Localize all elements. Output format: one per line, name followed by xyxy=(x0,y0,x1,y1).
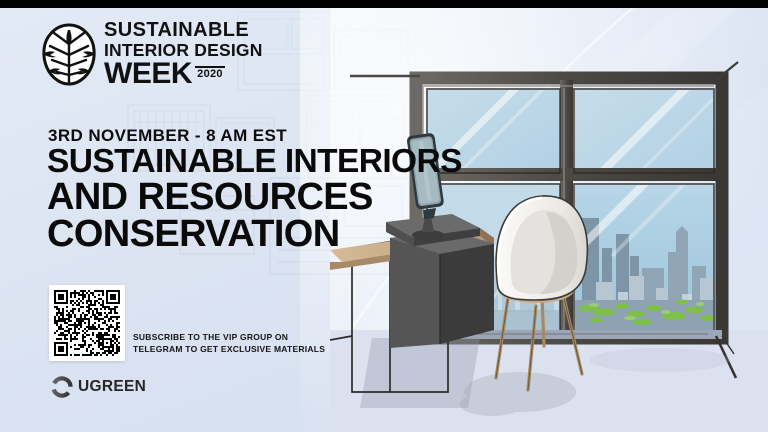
logo-line-3: WEEK xyxy=(104,60,192,88)
logo-wordmark: SUSTAINABLE INTERIOR DESIGN WEEK 2020 xyxy=(104,20,263,88)
logo-year-group: 2020 xyxy=(195,66,225,80)
logo-year: 2020 xyxy=(197,69,223,80)
sidw-logo: SUSTAINABLE INTERIOR DESIGN WEEK 2020 xyxy=(38,18,268,90)
qr-code-canvas xyxy=(54,290,120,356)
monstera-leaf-icon xyxy=(38,21,100,87)
event-title-line-1: SUSTAINABLE INTERIORS xyxy=(47,146,462,178)
event-title-line-3: CONSERVATION xyxy=(47,216,462,252)
ugreen-ring-icon xyxy=(51,376,73,398)
cta-text: SUBSCRIBE TO THE VIP GROUP ON TELEGRAM T… xyxy=(133,331,325,356)
poster-canvas: SUSTAINABLE INTERIOR DESIGN WEEK 2020 3R… xyxy=(0,0,768,432)
ugreen-brand: UGREEN xyxy=(51,376,146,398)
logo-line-1: SUSTAINABLE xyxy=(104,20,263,40)
event-title-line-2: AND RESOURCES xyxy=(47,179,462,215)
ugreen-wordmark: UGREEN xyxy=(78,378,146,396)
qr-code[interactable] xyxy=(49,285,125,361)
cta-line-1: SUBSCRIBE TO THE VIP GROUP ON xyxy=(133,331,325,343)
top-black-bar xyxy=(0,0,768,8)
cta-line-2: TELEGRAM TO GET EXCLUSIVE MATERIALS xyxy=(133,343,325,355)
event-title: SUSTAINABLE INTERIORS AND RESOURCES CONS… xyxy=(47,146,462,252)
